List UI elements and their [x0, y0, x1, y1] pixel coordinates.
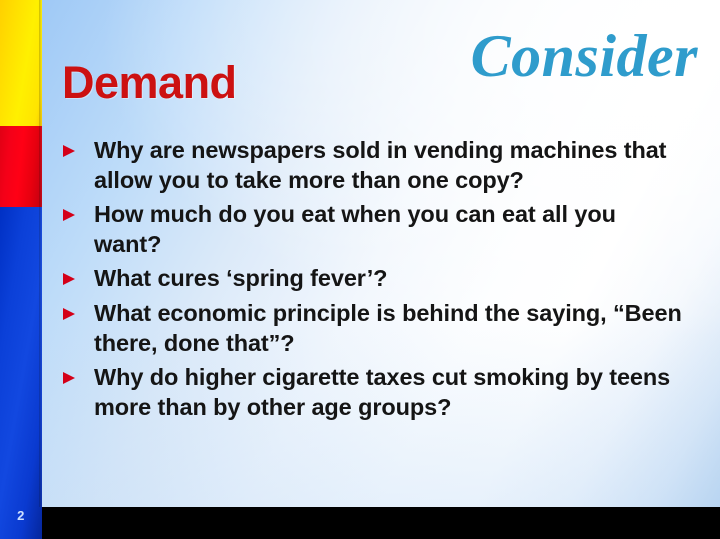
- list-item: How much do you eat when you can eat all…: [62, 200, 686, 259]
- list-item-label: What economic principle is behind the sa…: [94, 299, 686, 358]
- slide-footer-bar: [42, 507, 720, 539]
- slide-heading-consider: Consider: [471, 26, 698, 86]
- list-item: Why are newspapers sold in vending machi…: [62, 136, 686, 195]
- list-item-label: How much do you eat when you can eat all…: [94, 200, 686, 259]
- list-item-label: Why do higher cigarette taxes cut smokin…: [94, 363, 686, 422]
- list-item: Why do higher cigarette taxes cut smokin…: [62, 363, 686, 422]
- list-item-label: What cures ‘spring fever’?: [94, 264, 686, 294]
- page-number: 2: [0, 508, 42, 523]
- sidebar-band-blue: [0, 207, 42, 539]
- sidebar-band-red: [0, 126, 42, 207]
- triangle-right-icon: [62, 144, 76, 158]
- bullet-list: Why are newspapers sold in vending machi…: [62, 136, 686, 427]
- list-item-label: Why are newspapers sold in vending machi…: [94, 136, 686, 195]
- triangle-right-icon: [62, 307, 76, 321]
- sidebar-band-yellow: [0, 0, 42, 126]
- list-item: What economic principle is behind the sa…: [62, 299, 686, 358]
- presentation-slide: Demand Consider Why are newspapers sold …: [0, 0, 720, 539]
- triangle-right-icon: [62, 371, 76, 385]
- slide-title: Demand: [62, 60, 237, 105]
- triangle-right-icon: [62, 272, 76, 286]
- triangle-right-icon: [62, 208, 76, 222]
- slide-color-sidebar: [0, 0, 42, 539]
- list-item: What cures ‘spring fever’?: [62, 264, 686, 294]
